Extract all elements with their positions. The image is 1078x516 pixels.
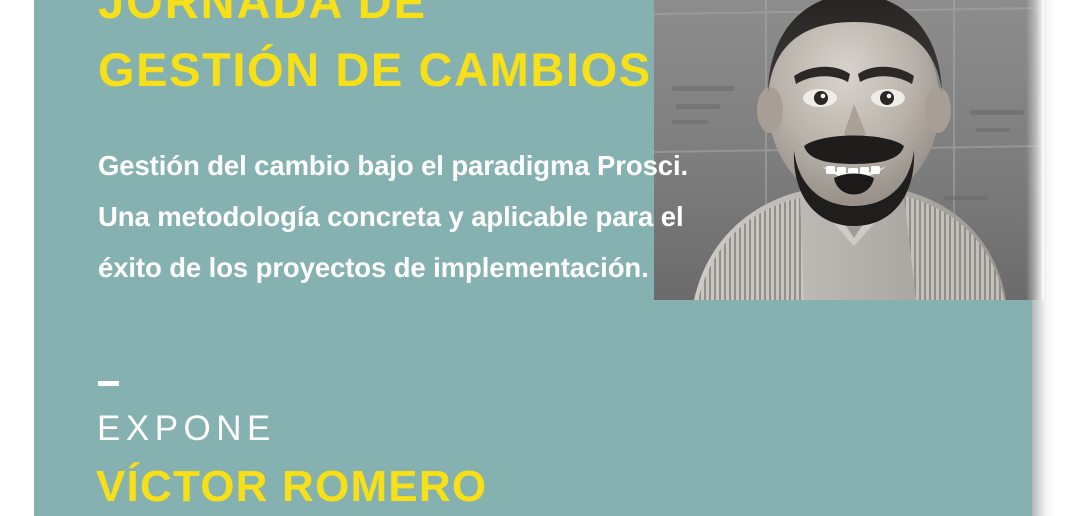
poster-description: Gestión del cambio bajo el paradigma Pro… xyxy=(98,140,698,293)
speaker-name: VÍCTOR ROMERO xyxy=(96,462,487,512)
event-poster: JORNADA DE GESTIÓN DE CAMBIOS Gestión de… xyxy=(0,0,1078,516)
poster-title-line-2: GESTIÓN DE CAMBIOS xyxy=(98,44,652,96)
poster-title-line-1: JORNADA DE xyxy=(98,0,427,28)
speaker-label: EXPONE xyxy=(97,409,276,449)
section-divider-dash xyxy=(98,381,119,386)
poster-content: JORNADA DE GESTIÓN DE CAMBIOS Gestión de… xyxy=(0,0,1078,516)
